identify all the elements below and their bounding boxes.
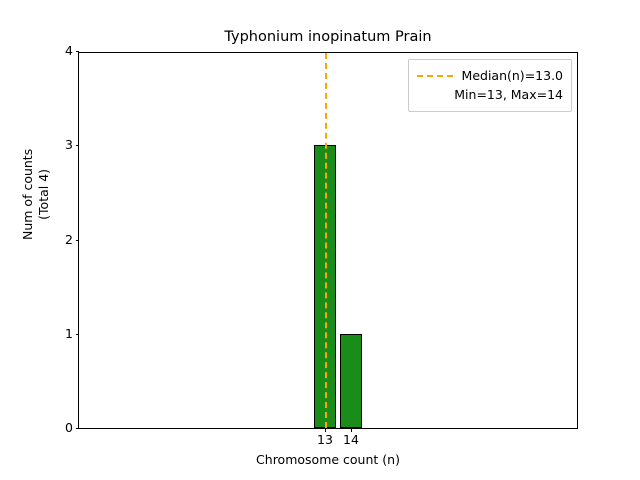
y-tick-mark [76, 145, 80, 146]
median-line [325, 53, 327, 428]
legend-label-range: Min=13, Max=14 [454, 87, 563, 102]
dashed-line-icon [417, 75, 453, 77]
y-axis-label: Num of counts (Total 4) [20, 149, 52, 240]
legend-label-median: Median(n)=13.0 [462, 68, 563, 83]
x-tick-label: 13 [317, 434, 333, 447]
chart-title: Typhonium inopinatum Prain [78, 28, 578, 46]
y-tick-label: 1 [65, 328, 73, 341]
legend-row-median: Median(n)=13.0 [417, 66, 563, 85]
y-tick-label: 2 [65, 233, 73, 246]
y-tick-mark [76, 428, 80, 429]
y-axis-label-line2: (Total 4) [36, 149, 52, 240]
y-tick-mark [76, 51, 80, 52]
y-tick-mark [76, 240, 80, 241]
y-tick-mark [76, 334, 80, 335]
y-tick-label: 0 [65, 422, 73, 435]
bar-14 [340, 334, 362, 428]
y-tick-label: 3 [65, 139, 73, 152]
y-axis-label-line1: Num of counts [20, 149, 35, 240]
chart-figure: Typhonium inopinatum Prain 0 1 2 3 4 [0, 0, 640, 480]
x-tick-label: 14 [343, 434, 359, 447]
chart-legend: Median(n)=13.0 Min=13, Max=14 [408, 59, 572, 112]
x-tick-mark [351, 428, 352, 432]
y-tick-label: 4 [65, 45, 73, 58]
plot-area: 0 1 2 3 4 13 [78, 52, 578, 429]
x-axis-label: Chromosome count (n) [78, 452, 578, 467]
x-tick-mark [325, 428, 326, 432]
legend-row-range: Min=13, Max=14 [417, 85, 563, 104]
